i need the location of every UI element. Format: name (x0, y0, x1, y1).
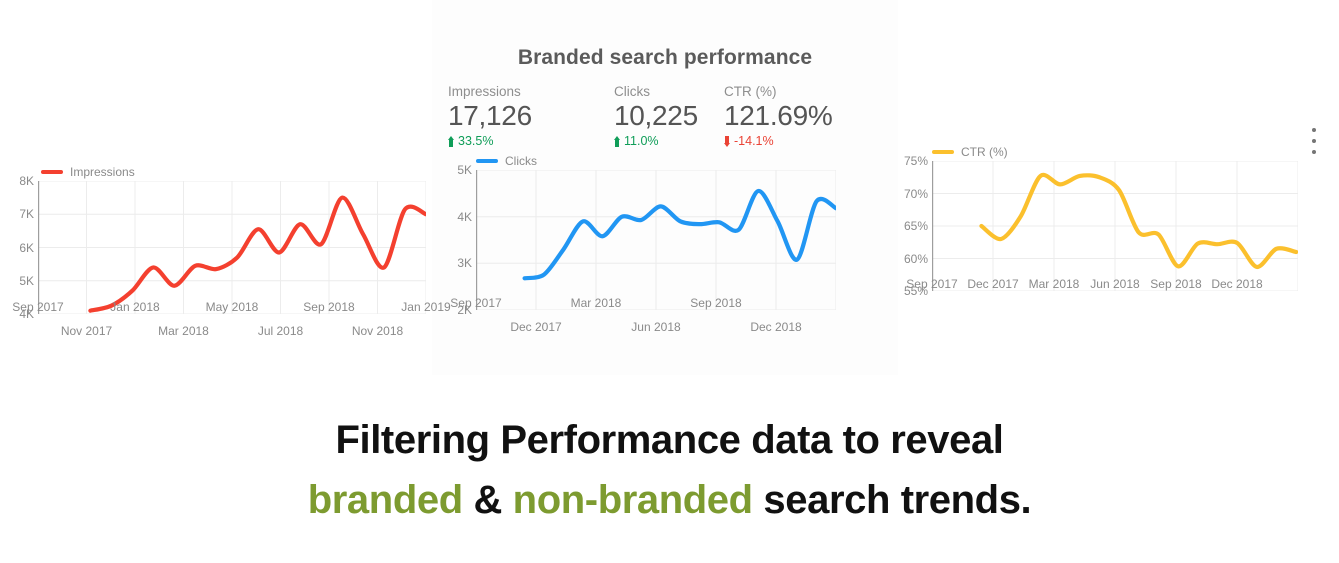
caption-highlight-branded: branded (308, 478, 463, 522)
dashboard-region: Branded search performance Impressions 1… (0, 0, 1339, 375)
scorecard-clicks: Clicks 10,225 11.0% (614, 84, 698, 149)
scorecard-delta-text: 33.5% (458, 133, 493, 149)
y-axis-tick-label: 70% (898, 187, 928, 201)
x-axis-tick-label: Dec 2017 (476, 320, 596, 334)
scorecard-ctr: CTR (%) 121.69% -14.1% (724, 84, 832, 149)
scorecard-delta: 11.0% (614, 133, 698, 149)
scorecard-delta: 33.5% (448, 133, 532, 149)
kebab-menu-icon[interactable] (1307, 128, 1321, 154)
y-axis-tick-label: 4K (448, 210, 472, 224)
caption-highlight-non-branded: non-branded (513, 478, 753, 522)
arrow-up-icon (448, 136, 455, 147)
caption-tail: search trends. (763, 478, 1031, 522)
scorecard-delta-text: -14.1% (734, 133, 774, 149)
legend-swatch-icon (41, 170, 63, 174)
kebab-dot-2 (1312, 139, 1316, 143)
page-title: Branded search performance (432, 46, 898, 70)
plot-area (476, 170, 836, 310)
chart-clicks[interactable]: Clicks 2K3K4K5KSep 2017Mar 2018Sep 2018D… (448, 152, 840, 357)
x-axis-tick-label: Sep 2018 (656, 296, 776, 310)
x-axis-tick-label: Dec 2018 (1177, 277, 1297, 291)
scorecard-value: 17,126 (448, 99, 532, 133)
plot-area (38, 181, 426, 314)
slide-caption: Filtering Performance data to reveal bra… (0, 410, 1339, 530)
legend-swatch-icon (932, 150, 954, 154)
kebab-dot-3 (1312, 150, 1316, 154)
scorecard-value: 121.69% (724, 99, 832, 133)
scorecard-value: 10,225 (614, 99, 698, 133)
legend-label: Impressions (70, 165, 135, 179)
legend-swatch-icon (476, 159, 498, 163)
x-axis-tick-label: Dec 2018 (716, 320, 836, 334)
scorecard-label: CTR (%) (724, 84, 832, 99)
caption-ampersand: & (473, 478, 502, 522)
slide-canvas: Branded search performance Impressions 1… (0, 0, 1339, 563)
y-axis-tick-label: 8K (8, 174, 34, 188)
chart-impressions[interactable]: Impressions 4K5K6K7K8KSep 2017Jan 2018Ma… (8, 163, 426, 358)
scorecard-delta-text: 11.0% (624, 133, 659, 149)
scorecard-label: Clicks (614, 84, 698, 99)
y-axis-tick-label: 60% (898, 252, 928, 266)
x-axis-tick-label: Mar 2018 (536, 296, 656, 310)
y-axis-tick-label: 5K (8, 274, 34, 288)
scorecard-label: Impressions (448, 84, 532, 99)
y-axis-tick-label: 6K (8, 241, 34, 255)
kebab-dot-1 (1312, 128, 1316, 132)
chart-ctr[interactable]: CTR (%) 55%60%65%70%75%Sep 2017Dec 2017M… (898, 143, 1298, 343)
y-axis-tick-label: 65% (898, 219, 928, 233)
legend-label: CTR (%) (961, 145, 1008, 159)
plot-area (932, 161, 1298, 291)
chart-legend: Clicks (476, 154, 537, 168)
x-axis-tick-label: Jun 2018 (596, 320, 716, 334)
y-axis-tick-label: 5K (448, 163, 472, 177)
scorecard-delta: -14.1% (724, 133, 832, 149)
caption-part-1: Filtering Performance data to reveal (335, 418, 1003, 462)
legend-label: Clicks (505, 154, 537, 168)
arrow-down-icon (724, 136, 731, 147)
x-axis-tick-label: Sep 2017 (416, 296, 536, 310)
arrow-up-icon (614, 136, 621, 147)
y-axis-tick-label: 75% (898, 154, 928, 168)
caption-line-2: branded & non-branded search trends. (0, 470, 1339, 530)
caption-line-1: Filtering Performance data to reveal (0, 410, 1339, 470)
scorecard-group: Impressions 17,126 33.5% Clicks 10,225 1… (448, 84, 888, 150)
chart-legend: Impressions (41, 165, 135, 179)
x-axis-tick-label: Nov 2018 (318, 324, 438, 338)
y-axis-tick-label: 3K (448, 256, 472, 270)
chart-legend: CTR (%) (932, 145, 1008, 159)
y-axis-tick-label: 7K (8, 207, 34, 221)
scorecard-impressions: Impressions 17,126 33.5% (448, 84, 532, 149)
